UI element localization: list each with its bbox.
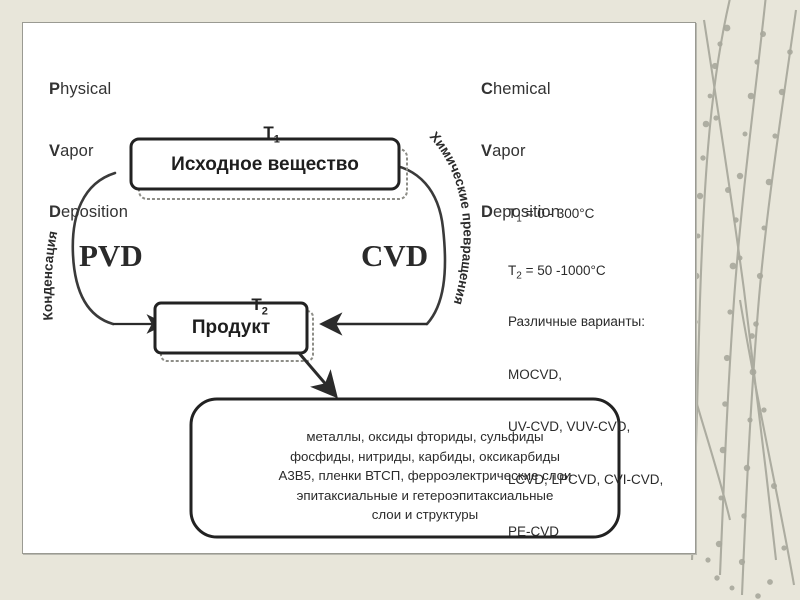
t2-value-text: = 50 -1000°C [522,263,606,278]
t1-symbol: T [263,123,273,142]
source-node-label: Исходное вещество [131,154,399,176]
pvd-word-vapor: apor [60,142,93,160]
products-line: металлы, оксиды фториды, сульфиды [215,427,635,447]
cvd-initial-c: C [481,80,493,98]
t1-value-symbol: T [508,206,516,221]
pvd-header: Physical Vapor Deposition [49,38,128,264]
t1-value-row: T1 = 0 - 300°C [508,205,606,228]
cvd-initial-d: D [481,203,493,221]
products-box-text: металлы, оксиды фториды, сульфиды фосфид… [215,427,635,525]
variants-line: MOCVD, [508,366,663,384]
cvd-initial-v: V [481,142,492,160]
pvd-word-physical: hysical [60,80,111,98]
t1-value-text: = 0 - 300°C [522,206,595,221]
products-line: фосфиды, нитриды, карбиды, оксикарбиды [215,447,635,467]
products-line: слои и структуры [215,505,635,525]
t1-subscript: 1 [274,133,280,145]
pvd-label: PVD [79,238,143,274]
products-line: эпитаксиальные и гетероэпитаксиальные [215,486,635,506]
pvd-word-deposition: eposition [61,203,128,221]
cvd-word-vapor: apor [492,142,525,160]
t2-value-symbol: T [508,263,516,278]
pvd-initial-p: P [49,80,60,98]
products-line: А3В5, пленки ВТСП, ферроэлектрические сл… [215,466,635,486]
cvd-word-chemical: hemical [493,80,551,98]
pvd-initial-v: V [49,142,60,160]
pvd-initial-d: D [49,203,61,221]
slide-background: Physical Vapor Deposition Chemical Vapor… [0,0,800,600]
variants-title: Различные варианты: [508,313,663,331]
product-node-label: Продукт [155,317,307,339]
cvd-label: CVD [361,238,428,274]
variants-line: PE-CVD [508,523,663,541]
content-panel: Physical Vapor Deposition Chemical Vapor… [22,22,696,554]
t2-subscript: 2 [262,305,268,317]
t2-symbol: T [251,295,261,314]
